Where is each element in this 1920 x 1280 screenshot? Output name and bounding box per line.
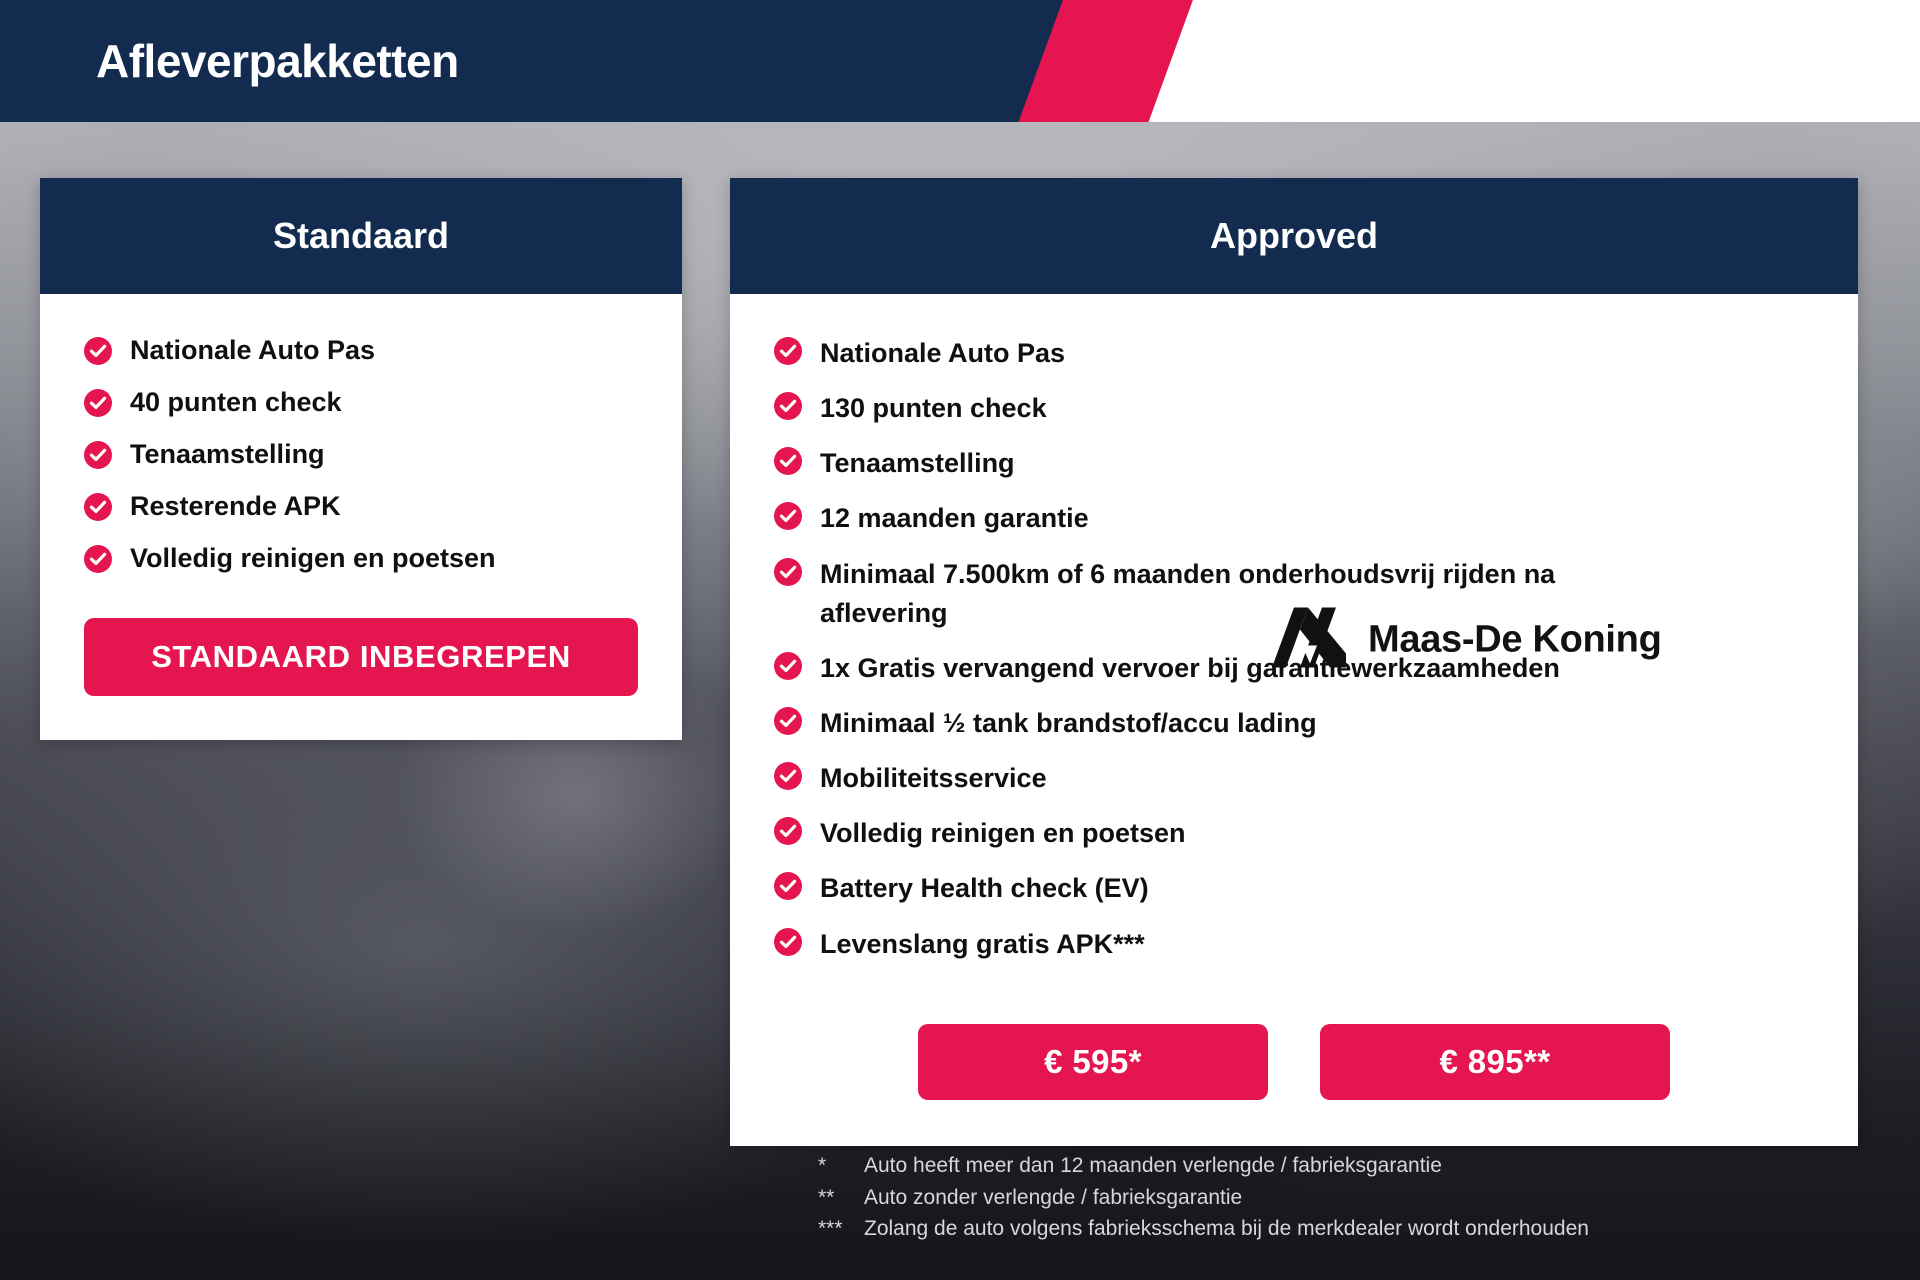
feature-label: Minimaal ½ tank brandstof/accu lading xyxy=(820,704,1317,743)
list-item: Tenaamstelling xyxy=(774,444,1828,483)
price-button-row: € 595* € 895** xyxy=(730,980,1858,1146)
list-item: 130 punten check xyxy=(774,389,1828,428)
feature-label: Resterende APK xyxy=(130,490,341,522)
card-title-standaard: Standaard xyxy=(40,178,682,294)
check-circle-icon xyxy=(84,441,112,474)
price-button-895[interactable]: € 895** xyxy=(1320,1024,1670,1100)
feature-label: Tenaamstelling xyxy=(820,444,1015,483)
feature-label: 40 punten check xyxy=(130,386,342,418)
footnotes: * Auto heeft meer dan 12 maanden verleng… xyxy=(818,1150,1818,1245)
list-item: 40 punten check xyxy=(84,386,682,422)
page-title: Afleverpakketten xyxy=(96,34,459,88)
list-item: Nationale Auto Pas xyxy=(84,334,682,370)
footnote-text: Zolang de auto volgens fabrieksschema bi… xyxy=(864,1213,1589,1245)
header-brand-panel xyxy=(1143,0,1920,122)
feature-label: Battery Health check (EV) xyxy=(820,869,1149,908)
footnote-marker: ** xyxy=(818,1182,864,1214)
footnote-row: *** Zolang de auto volgens fabrieksschem… xyxy=(818,1213,1818,1245)
footnote-row: * Auto heeft meer dan 12 maanden verleng… xyxy=(818,1150,1818,1182)
footnote-row: ** Auto zonder verlengde / fabrieksgaran… xyxy=(818,1182,1818,1214)
feature-list-standaard: Nationale Auto Pas 40 punten check Tenaa… xyxy=(40,294,682,578)
check-circle-icon xyxy=(774,558,802,591)
feature-label: Nationale Auto Pas xyxy=(820,334,1065,373)
package-card-standaard: Standaard Nationale Auto Pas 40 punten c… xyxy=(40,178,682,740)
feature-label: Volledig reinigen en poetsen xyxy=(130,542,496,574)
feature-label: Levenslang gratis APK*** xyxy=(820,925,1145,964)
check-circle-icon xyxy=(774,928,802,961)
feature-label: Volledig reinigen en poetsen xyxy=(820,814,1186,853)
list-item: Levenslang gratis APK*** xyxy=(774,925,1828,964)
list-item: Resterende APK xyxy=(84,490,682,526)
check-circle-icon xyxy=(84,337,112,370)
feature-label: Mobiliteitsservice xyxy=(820,759,1047,798)
check-circle-icon xyxy=(774,652,802,685)
brand-name: Maas-De Koning xyxy=(1368,619,1662,662)
card-title-approved: Approved xyxy=(730,178,1858,294)
check-circle-icon xyxy=(774,707,802,740)
list-item: Minimaal ½ tank brandstof/accu lading xyxy=(774,704,1828,743)
standaard-cta-wrapper: STANDAARD INBEGREPEN xyxy=(40,594,682,740)
page-header: Afleverpakketten xyxy=(0,0,1920,122)
check-circle-icon xyxy=(774,502,802,535)
standaard-included-button[interactable]: STANDAARD INBEGREPEN xyxy=(84,618,638,696)
check-circle-icon xyxy=(84,493,112,526)
check-circle-icon xyxy=(84,389,112,422)
footnote-text: Auto heeft meer dan 12 maanden verlengde… xyxy=(864,1150,1442,1182)
feature-label: 12 maanden garantie xyxy=(820,499,1089,538)
brand-logo: Maas-De Koning xyxy=(1272,608,1662,673)
check-circle-icon xyxy=(774,817,802,850)
price-button-595[interactable]: € 595* xyxy=(918,1024,1268,1100)
footnote-marker: * xyxy=(818,1150,864,1182)
feature-label: Nationale Auto Pas xyxy=(130,334,375,366)
list-item: Mobiliteitsservice xyxy=(774,759,1828,798)
check-circle-icon xyxy=(774,762,802,795)
check-circle-icon xyxy=(84,545,112,578)
list-item: Volledig reinigen en poetsen xyxy=(774,814,1828,853)
check-circle-icon xyxy=(774,337,802,370)
list-item: Nationale Auto Pas xyxy=(774,334,1828,373)
list-item: Tenaamstelling xyxy=(84,438,682,474)
footnote-text: Auto zonder verlengde / fabrieksgarantie xyxy=(864,1182,1242,1214)
feature-label: Tenaamstelling xyxy=(130,438,325,470)
check-circle-icon xyxy=(774,447,802,480)
maas-de-koning-m-logo-icon xyxy=(1272,608,1346,673)
list-item: 12 maanden garantie xyxy=(774,499,1828,538)
list-item: Battery Health check (EV) xyxy=(774,869,1828,908)
footnote-marker: *** xyxy=(818,1213,864,1245)
check-circle-icon xyxy=(774,392,802,425)
check-circle-icon xyxy=(774,872,802,905)
feature-label: 130 punten check xyxy=(820,389,1047,428)
list-item: Volledig reinigen en poetsen xyxy=(84,542,682,578)
